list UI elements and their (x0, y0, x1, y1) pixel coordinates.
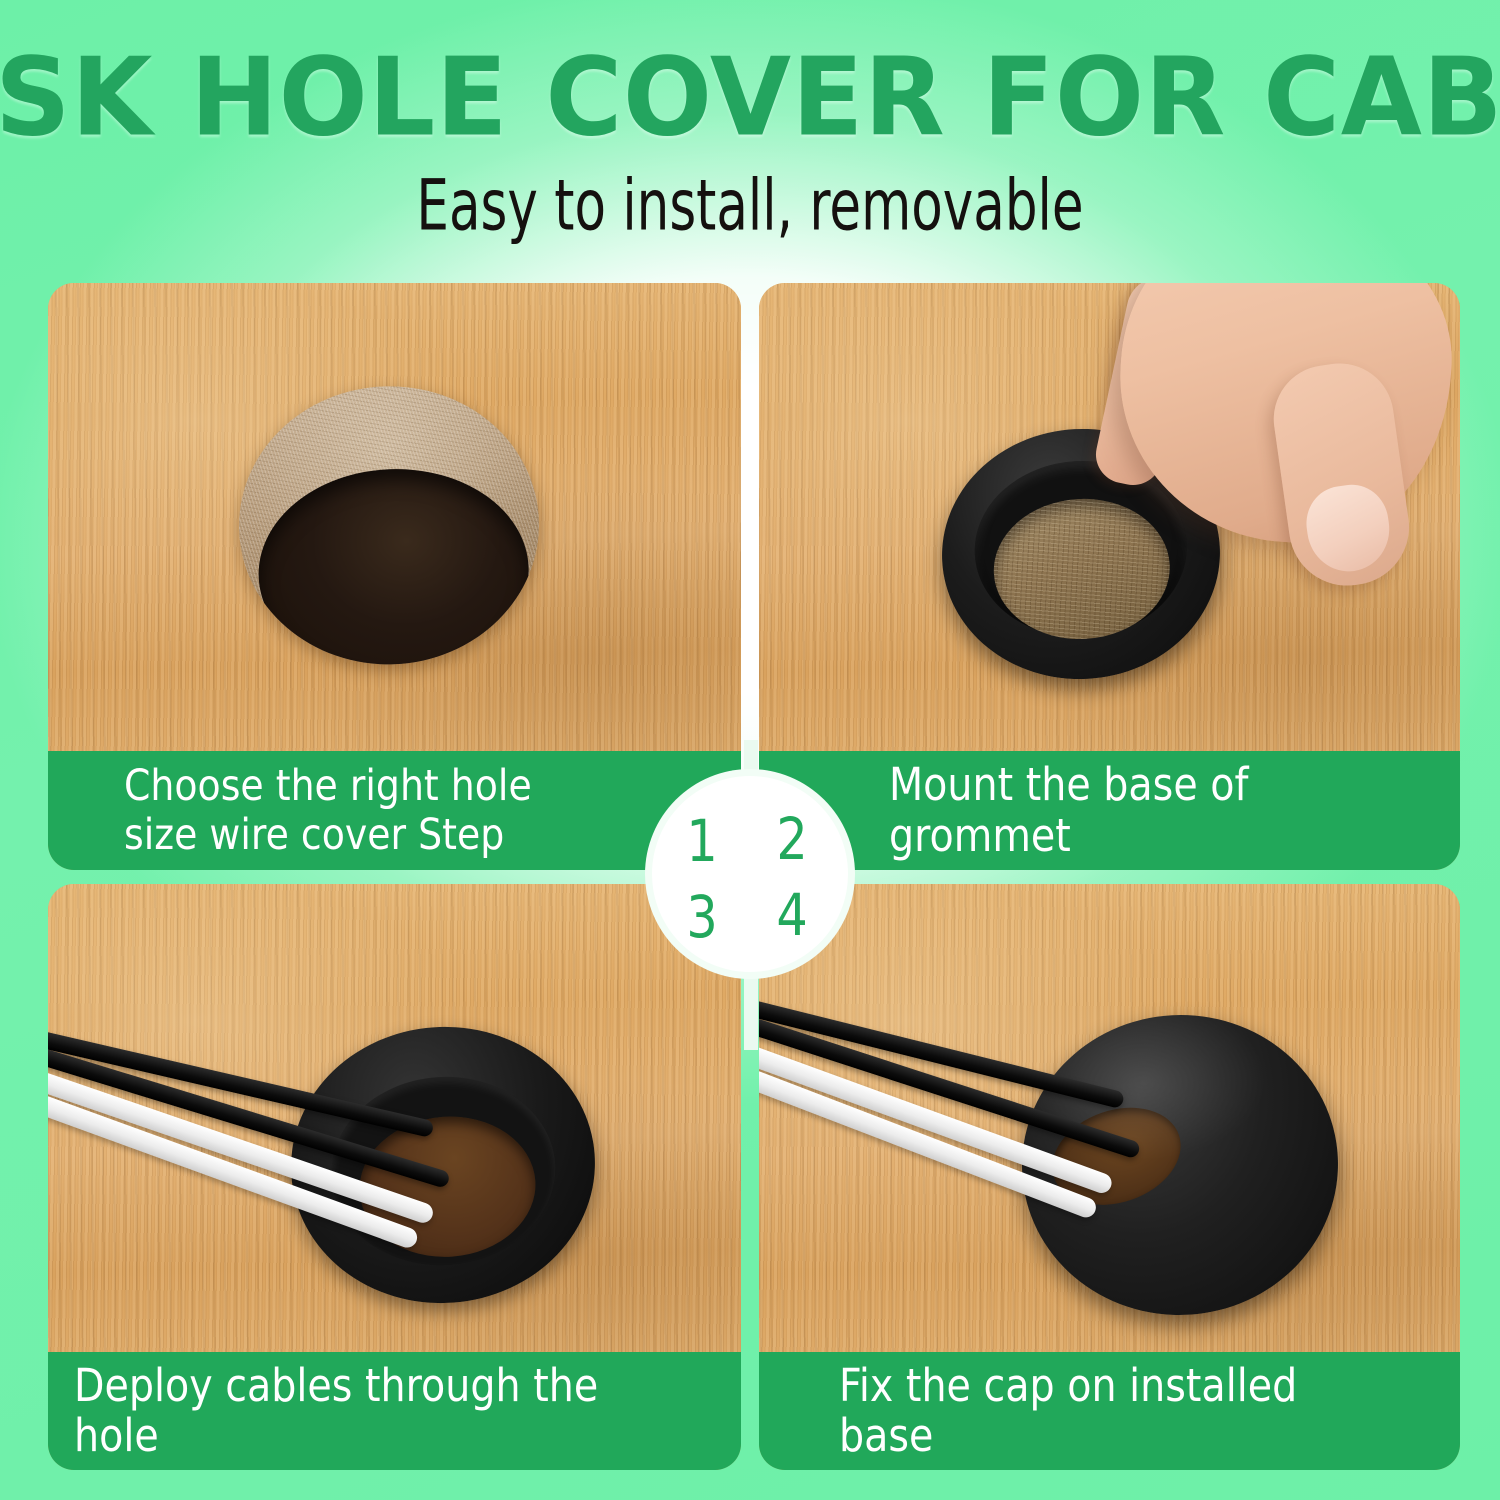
step-2-caption-text: Mount the base of grommet (889, 760, 1391, 861)
step-3-photo (48, 884, 741, 1352)
step-panel-2: Mount the base of grommet (759, 283, 1460, 870)
step-panel-3: Deploy cables through the hole (48, 884, 741, 1470)
step-number-1: 1 (678, 812, 726, 870)
cable-bundle (48, 1064, 588, 1352)
step-3-caption-bar: Deploy cables through the hole (48, 1352, 741, 1470)
step-1-photo (48, 283, 741, 751)
drilled-hole-edge (234, 381, 544, 669)
cable-bundle (759, 1034, 1289, 1334)
hole-interior-dark (255, 465, 532, 670)
page-title: DESK HOLE COVER FOR CABLES (0, 44, 1500, 152)
infographic-frame: DESK HOLE COVER FOR CABLES Easy to insta… (0, 0, 1500, 1500)
step-4-photo (759, 884, 1460, 1352)
step-number-4: 4 (768, 886, 816, 944)
step-1-caption-bar: Choose the right hole size wire cover St… (48, 751, 741, 870)
step-panel-1: Choose the right hole size wire cover St… (48, 283, 741, 870)
header: DESK HOLE COVER FOR CABLES Easy to insta… (0, 0, 1500, 275)
step-3-caption-text: Deploy cables through the hole (74, 1361, 661, 1462)
step-dial: 1 2 3 4 (652, 776, 848, 972)
step-1-caption-text: Choose the right hole size wire cover St… (124, 762, 667, 858)
step-2-caption-bar: Mount the base of grommet (759, 751, 1460, 870)
step-number-3: 3 (678, 888, 726, 946)
step-2-photo (759, 283, 1460, 751)
step-4-caption-bar: Fix the cap on installed base (759, 1352, 1460, 1470)
step-panel-4: Fix the cap on installed base (759, 884, 1460, 1470)
page-subtitle: Easy to install, removable (60, 172, 1440, 242)
thumbnail (1302, 480, 1395, 577)
hand-illustration (983, 283, 1460, 654)
step-4-caption-text: Fix the cap on installed base (839, 1361, 1385, 1462)
step-number-2: 2 (768, 810, 816, 868)
